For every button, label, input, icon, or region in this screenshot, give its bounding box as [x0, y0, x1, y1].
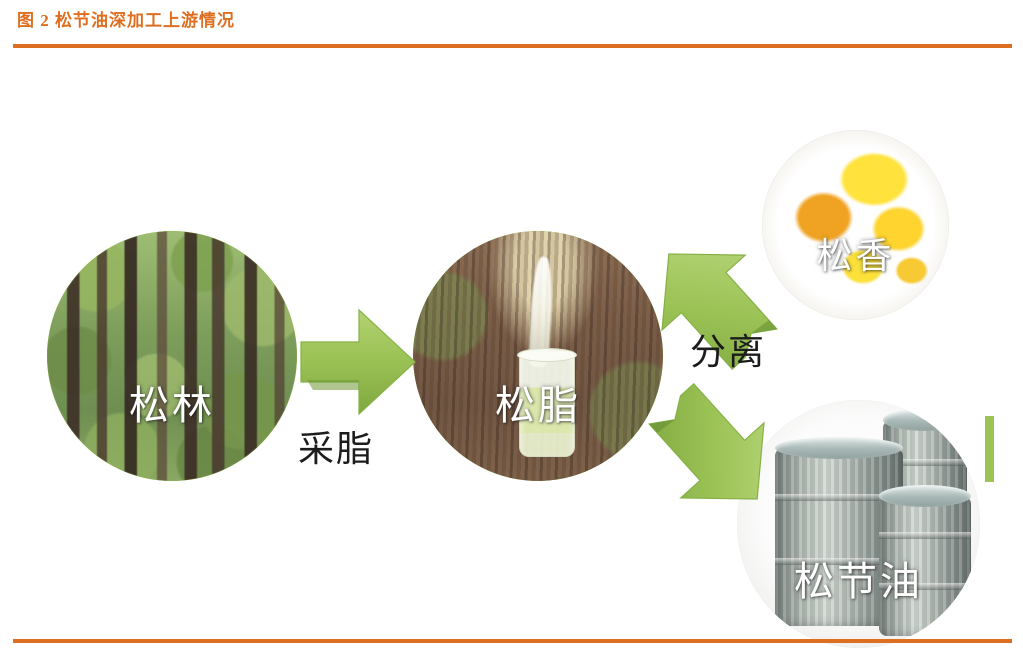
node-label-rosin: 松香	[762, 238, 949, 274]
footer-divider	[13, 639, 1012, 643]
edge-label-separate: 分离	[690, 334, 766, 370]
node-rosin: 松香	[762, 130, 949, 320]
drum-lid	[879, 485, 971, 507]
node-label-turpentine: 松节油	[737, 562, 980, 602]
node-label-pine-forest: 松林	[47, 386, 297, 426]
edge-label-tapping: 采脂	[298, 431, 374, 467]
arrow-tapping-right	[297, 302, 419, 422]
node-pine-forest: 松林	[47, 231, 297, 481]
drum-lid	[883, 409, 967, 431]
arrow-edge-sliver	[985, 416, 1011, 482]
rosin-chunks-photo	[762, 130, 949, 320]
node-pine-resin: 松脂	[413, 231, 663, 481]
arrow-separate-down-right	[643, 380, 783, 520]
drum-lid	[775, 437, 903, 459]
node-label-pine-resin: 松脂	[413, 386, 663, 426]
process-flow-diagram: 松林 采脂 松脂	[0, 48, 1023, 638]
pine-forest-photo	[47, 231, 297, 481]
figure-header: 图 2 松节油深加工上游情况	[0, 0, 1023, 48]
page-title: 图 2 松节油深加工上游情况	[17, 6, 235, 31]
